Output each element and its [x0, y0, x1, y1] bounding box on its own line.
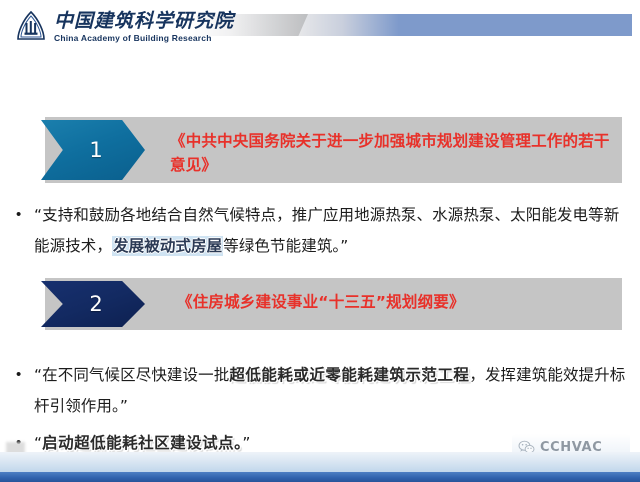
section-title-2: 《住房城乡建设事业“十三五”规划纲要》	[177, 290, 617, 314]
bullet-item-2: • “在不同气候区尽快建设一批超低能耗或近零能耗建筑示范工程，发挥建筑能效提升标…	[14, 360, 626, 422]
org-name-en: China Academy of Building Research	[54, 34, 234, 43]
bullet-run-plain: “在不同气候区尽快建设一批	[34, 366, 229, 384]
footer-bar	[0, 472, 640, 482]
section-banner-2: 2 《住房城乡建设事业“十三五”规划纲要》	[45, 278, 622, 330]
section-number-1: 1	[83, 138, 102, 162]
slide-canvas: 中国建筑科学研究院 China Academy of Building Rese…	[0, 0, 640, 482]
section-banner-1: 1 《中共中央国务院关于进一步加强城市规划建设管理工作的若干意见》	[45, 117, 622, 183]
cabr-logo-icon	[14, 10, 48, 44]
bullet-run-plain: “	[34, 434, 42, 452]
bullet-run-highlight-outline: 超低能耗或近零能耗建筑示范工程	[229, 366, 469, 384]
bullet-marker: •	[14, 200, 34, 230]
bullet-text-1: “支持和鼓励各地结合自然气候特点，推广应用地源热泵、水源热泵、太阳能发电等新能源…	[34, 200, 626, 262]
section-number-2: 2	[83, 292, 102, 316]
footer-band	[0, 452, 640, 474]
bullet-marker: •	[14, 360, 34, 390]
bullet-run-plain-tail: 等绿色节能建筑。”	[223, 237, 348, 255]
bullet-run-highlight-outline: 启动超低能耗社区建设试点。	[42, 434, 242, 452]
organization-logo: 中国建筑科学研究院 China Academy of Building Rese…	[14, 10, 234, 44]
slide-header: 中国建筑科学研究院 China Academy of Building Rese…	[0, 0, 640, 68]
bullet-item-1: • “支持和鼓励各地结合自然气候特点，推广应用地源热泵、水源热泵、太阳能发电等新…	[14, 200, 626, 262]
bullet-text-2: “在不同气候区尽快建设一批超低能耗或近零能耗建筑示范工程，发挥建筑能效提升标杆引…	[34, 360, 626, 422]
org-name-cn: 中国建筑科学研究院	[54, 12, 234, 31]
section-title-1: 《中共中央国务院关于进一步加强城市规划建设管理工作的若干意见》	[170, 129, 610, 177]
bullet-run-highlight-blue: 发展被动式房屋	[112, 236, 223, 256]
bullet-run-plain-tail: ”	[242, 434, 250, 452]
